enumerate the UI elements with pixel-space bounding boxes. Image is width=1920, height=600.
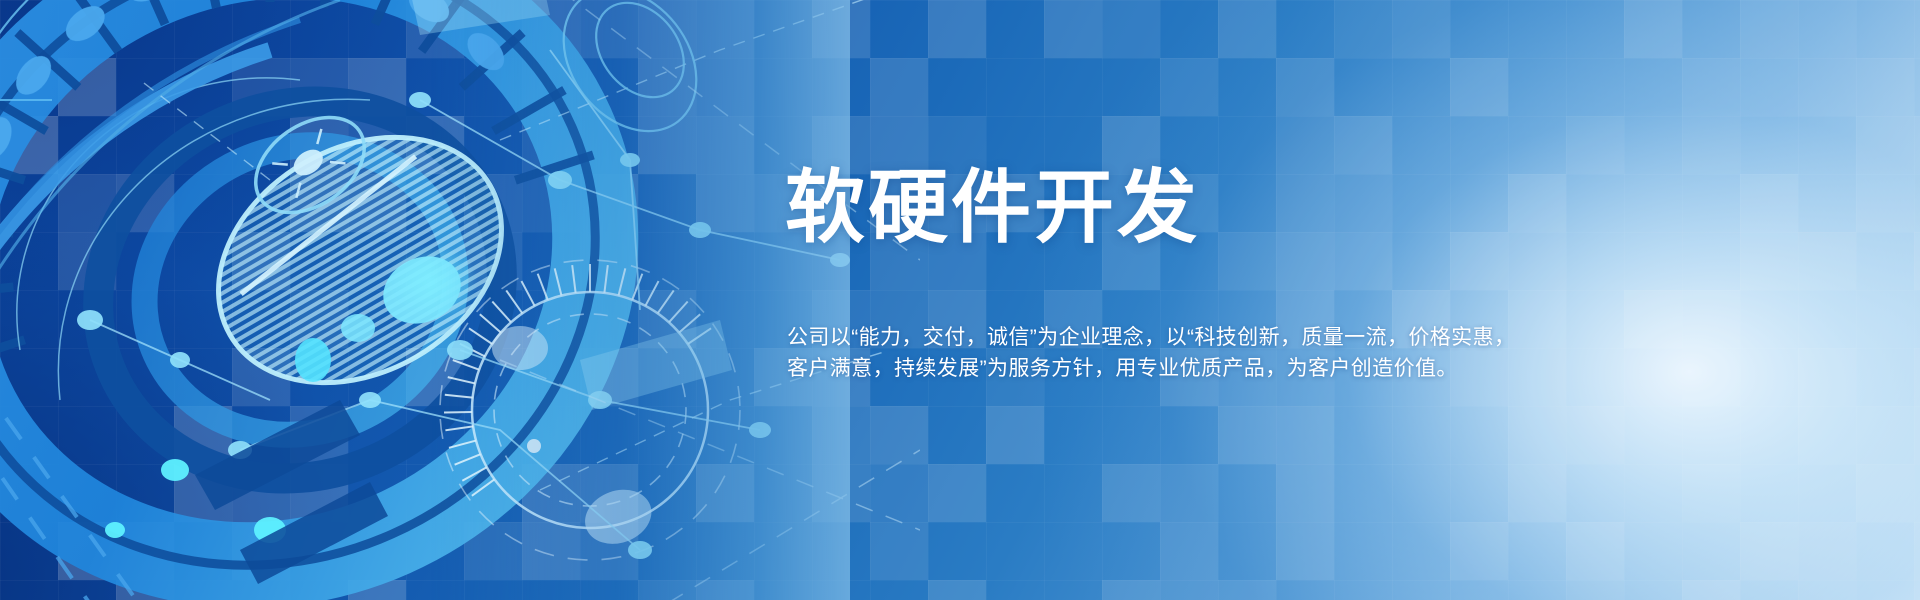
- banner-subtitle: 公司以“能力，交付，诚信”为企业理念，以“科技创新，质量一流，价格实惠， 客户满…: [787, 322, 1515, 384]
- banner-hero: 软硬件开发 公司以“能力，交付，诚信”为企业理念，以“科技创新，质量一流，价格实…: [0, 0, 1920, 600]
- background-square-tile: [1914, 116, 1920, 174]
- background-square-tile: [1798, 522, 1856, 580]
- background-square-tile: [1682, 116, 1740, 174]
- background-square-tile: [1914, 348, 1920, 406]
- background-square-tile: [1798, 58, 1856, 116]
- background-square-tile: [1856, 58, 1914, 116]
- banner-subtitle-line-1: 公司以“能力，交付，诚信”为企业理念，以“科技创新，质量一流，价格实惠，: [787, 322, 1515, 353]
- tech-circuit-graphic: [0, 0, 920, 600]
- background-square-tile: [1740, 232, 1798, 290]
- banner-title: 软硬件开发: [785, 168, 1200, 248]
- background-square-tile: [1914, 464, 1920, 522]
- background-square-tile: [1856, 464, 1914, 522]
- background-square-tile: [1856, 116, 1914, 174]
- banner-subtitle-line-2: 客户满意，持续发展”为服务方针，用专业优质产品，为客户创造价值。: [787, 353, 1515, 384]
- banner-text-content: 软硬件开发 公司以“能力，交付，诚信”为企业理念，以“科技创新，质量一流，价格实…: [785, 0, 1685, 600]
- background-square-tile: [1914, 580, 1920, 600]
- background-square-tile: [1798, 406, 1856, 464]
- background-square-tile: [1798, 348, 1856, 406]
- background-square-tile: [1914, 406, 1920, 464]
- background-square-tile: [1914, 232, 1920, 290]
- background-square-tile: [1798, 0, 1856, 58]
- background-square-tile: [1914, 174, 1920, 232]
- background-square-tile: [1682, 58, 1740, 116]
- background-square-tile: [1740, 58, 1798, 116]
- background-square-tile: [1914, 522, 1920, 580]
- background-square-tile: [1740, 522, 1798, 580]
- background-square-tile: [1682, 464, 1740, 522]
- background-square-tile: [1856, 406, 1914, 464]
- background-square-tile: [1682, 580, 1740, 600]
- background-square-tile: [1798, 232, 1856, 290]
- background-square-tile: [1798, 580, 1856, 600]
- background-square-tile: [1740, 0, 1798, 58]
- background-square-tile: [1740, 174, 1798, 232]
- background-square-tile: [1682, 290, 1740, 348]
- background-square-tile: [1682, 348, 1740, 406]
- background-square-tile: [1856, 174, 1914, 232]
